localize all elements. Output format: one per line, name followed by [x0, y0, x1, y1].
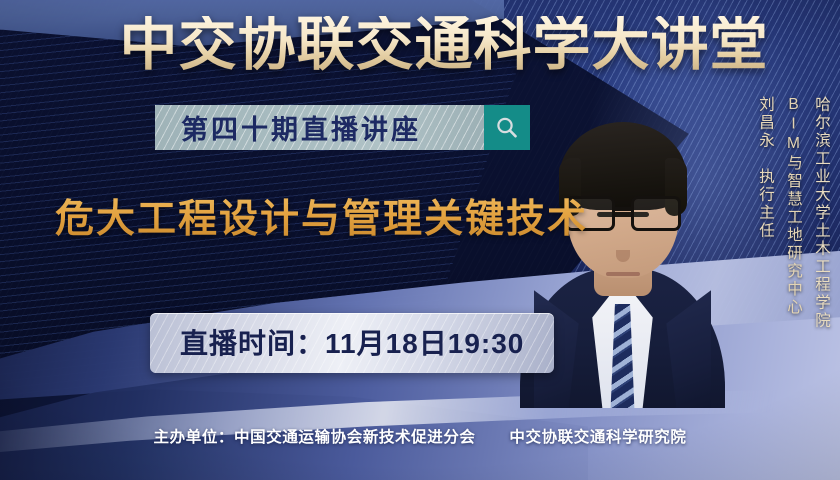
organizer-primary: 主办单位：中国交通运输协会新技术促进分会: [154, 429, 476, 446]
poster-title: 中交协联交通科学大讲堂: [0, 16, 840, 74]
speaker-role: 执行主任: [757, 168, 774, 240]
speaker-center: BIM与智慧工地研究中心: [778, 96, 806, 317]
live-lecture-poster: 中交协联交通科学大讲堂 第四十期直播讲座 危大工程设计与管理关键技术 直播时间：…: [0, 0, 840, 480]
organizer-secondary: 中交协联交通科学研究院: [509, 429, 686, 446]
speaker-name: 刘昌永: [757, 96, 774, 150]
speaker-name-role: 刘昌永 执行主任: [750, 96, 778, 240]
episode-banner-body: 第四十期直播讲座: [155, 105, 484, 150]
portrait-mouth: [606, 272, 640, 276]
speaker-role-spacer: [757, 150, 774, 168]
speaker-organization: 哈尔滨工业大学土木工程学院: [806, 96, 834, 330]
episode-label: 第四十期直播讲座: [155, 108, 421, 147]
live-time-label: 直播时间：11月18日19:30: [180, 328, 524, 359]
search-icon: [484, 105, 530, 150]
glasses-bridge: [612, 207, 634, 211]
episode-banner: 第四十期直播讲座: [155, 105, 530, 150]
glasses-lens-right: [631, 196, 681, 231]
organizer-footer: 主办单位：中国交通运输协会新技术促进分会 中交协联交通科学研究院: [0, 425, 840, 447]
live-time-badge: 直播时间：11月18日19:30: [150, 313, 554, 373]
speaker-credits: 刘昌永 执行主任 BIM与智慧工地研究中心 哈尔滨工业大学土木工程学院: [750, 96, 834, 330]
portrait-nose: [616, 250, 630, 262]
lecture-headline: 危大工程设计与管理关键技术: [55, 188, 588, 244]
